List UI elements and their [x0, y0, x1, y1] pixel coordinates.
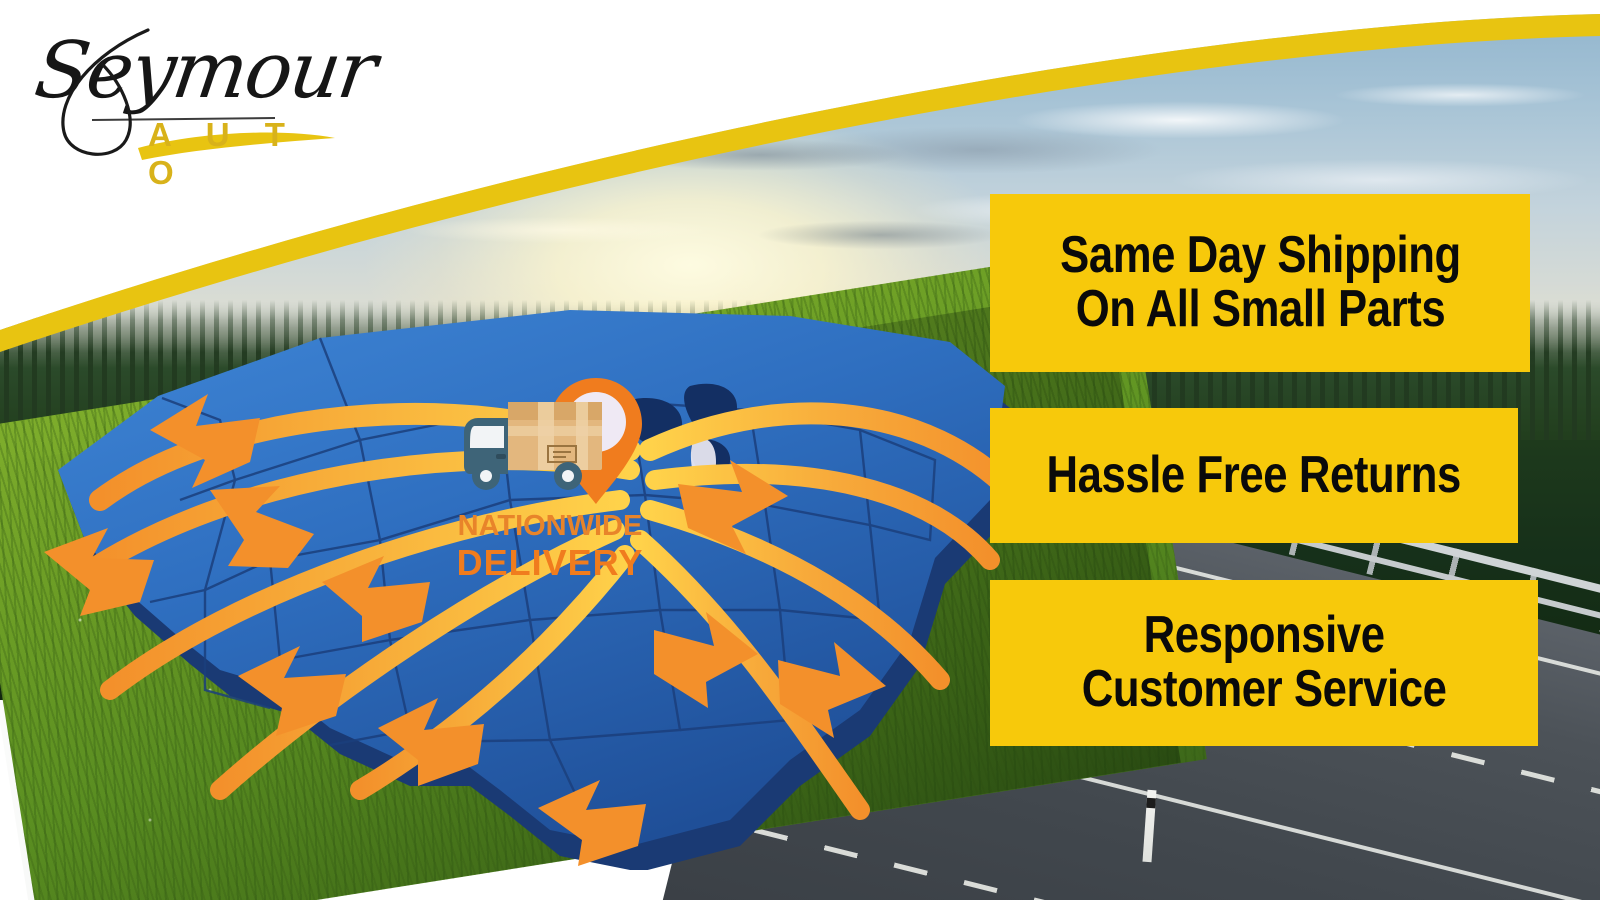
logo-auto-text: A U T O	[148, 116, 350, 192]
delivery-label: DELIVERY	[430, 542, 670, 584]
banner-same-day-shipping[interactable]: Same Day Shipping On All Small Parts	[990, 194, 1530, 372]
delivery-truck-icon	[450, 370, 650, 510]
banner-1-line-2: On All Small Parts	[1060, 283, 1461, 337]
truck-rear-hubcap	[562, 470, 574, 482]
banner-1-line-1: Same Day Shipping	[1060, 229, 1461, 283]
promo-banner-canvas: Seymour A U T O	[0, 0, 1600, 900]
cargo-tape-horizontal	[508, 426, 602, 436]
brand-logo[interactable]: Seymour A U T O	[30, 20, 350, 170]
banner-3-line-2: Customer Service	[1082, 663, 1447, 717]
nationwide-label: NATIONWIDE	[430, 510, 670, 543]
truck-front-hubcap	[480, 470, 492, 482]
logo-script-loop	[63, 30, 148, 154]
truck-door-handle	[496, 454, 506, 459]
truck-windshield	[470, 426, 504, 448]
banner-hassle-free-returns[interactable]: Hassle Free Returns	[990, 408, 1518, 543]
banner-responsive-customer-service[interactable]: Responsive Customer Service	[990, 580, 1538, 746]
banner-2-line-1: Hassle Free Returns	[1047, 449, 1461, 503]
banner-3-line-1: Responsive	[1082, 609, 1447, 663]
nationwide-delivery-callout: NATIONWIDE DELIVERY	[430, 370, 670, 585]
